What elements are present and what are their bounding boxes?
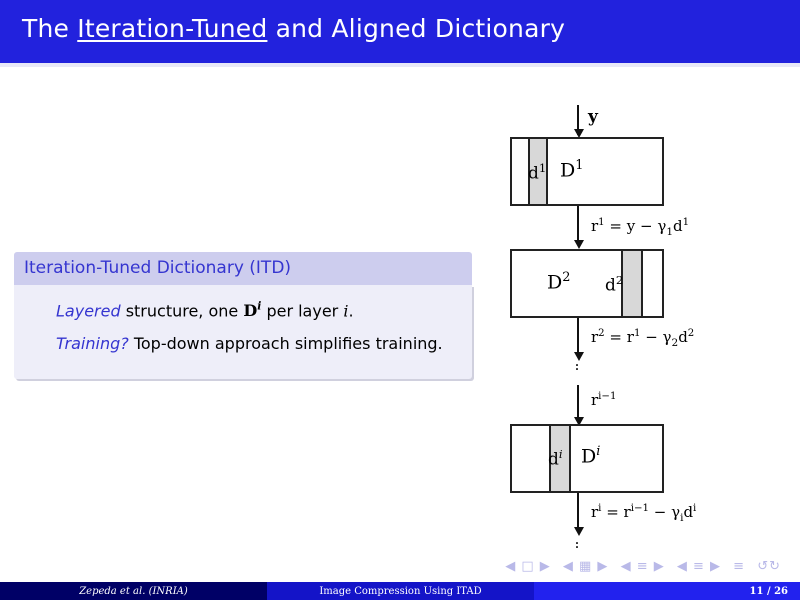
eq1-minus: − — [635, 217, 657, 235]
layered-text-before: structure, one — [121, 301, 244, 320]
title-part-1: The — [22, 14, 77, 43]
atom-label-1-base: d — [528, 164, 539, 184]
emph-layered: Layered — [56, 301, 121, 320]
eq1-term2: d — [673, 217, 683, 235]
dict-label-i-base: D — [581, 445, 596, 467]
atom-label-2-base: d — [605, 276, 616, 296]
nav-frame-icon[interactable]: ◀ ▦ ▶ — [563, 559, 609, 574]
residual-arrow-line-2 — [577, 318, 579, 354]
dict-label-2-sup: 2 — [562, 270, 570, 285]
intermediate-residual-label: ri−1 — [591, 391, 616, 409]
input-label-text: y — [588, 107, 598, 127]
eqi-term1: r — [624, 503, 631, 521]
layer-box-2 — [510, 249, 664, 318]
residual-arrow-line-mid — [577, 385, 579, 419]
eq1-term2-sup: 1 — [683, 217, 689, 228]
dict-label-1: D1 — [560, 158, 583, 181]
nav-slide-icon[interactable]: ◀ □ ▶ — [505, 559, 551, 574]
eq1-gamma-sub: 1 — [666, 226, 673, 238]
eq1-term1: y — [627, 217, 635, 235]
footer-author: Zepeda et al. (INRIA) — [0, 582, 267, 600]
atom-label-i-sup: i — [559, 447, 563, 461]
vertical-dots-bottom: · · — [571, 541, 583, 549]
footer-title: Image Compression Using ITAD — [267, 582, 534, 600]
dict-label-i: Di — [581, 444, 600, 467]
eqi-minus: − — [649, 503, 671, 521]
atom-label-1: d1 — [528, 161, 546, 184]
emph-training: Training? — [56, 334, 129, 353]
eq2-term1: r — [627, 328, 634, 346]
slide-footer: Zepeda et al. (INRIA) Image Compression … — [0, 582, 800, 600]
nav-back-forward-icon[interactable]: ↺↻ — [757, 559, 781, 574]
title-underline-strip — [0, 63, 800, 67]
eqi-term2-sup: i — [693, 503, 696, 514]
atom-label-1-sup: 1 — [539, 161, 546, 175]
dict-label-1-base: D — [560, 159, 575, 181]
atom-label-2: d2 — [605, 273, 623, 296]
residual-equation-i: ri = ri−1 − γidi — [591, 503, 696, 524]
dict-label-2-base: D — [547, 271, 562, 293]
eqi-equals: = — [601, 503, 623, 521]
footer-page-number: 11 / 26 — [534, 582, 800, 600]
atom-label-i-base: d — [548, 450, 559, 470]
math-d: D — [243, 301, 257, 320]
residual-arrow-line-1 — [577, 206, 579, 242]
layered-period: . — [348, 301, 353, 320]
eq2-minus: − — [640, 328, 662, 346]
nav-subsection-icon[interactable]: ◀ ≡ ▶ — [621, 559, 665, 574]
intermediate-label-sup: i−1 — [598, 391, 616, 402]
atom-column-2 — [621, 251, 643, 316]
itd-block: Iteration-Tuned Dictionary (ITD) Layered… — [14, 252, 472, 379]
block-item-layered: Layered structure, one Di per layer i. — [26, 299, 460, 324]
vertical-dots-middle: · · — [571, 363, 583, 371]
beamer-navigation-symbols[interactable]: ◀ □ ▶ ◀ ▦ ▶ ◀ ≡ ▶ ◀ ≡ ▶ ≡ ↺↻ — [505, 559, 788, 574]
vdot-4: · — [571, 545, 583, 549]
eq2-equals: = — [605, 328, 627, 346]
block-item-training: Training? Top-down approach simplifies t… — [26, 332, 460, 357]
residual-equation-1: r1 = y − γ1d1 — [591, 217, 689, 238]
nav-doc-icon[interactable]: ≡ — [733, 559, 745, 574]
eq1-equals: = — [605, 217, 627, 235]
atom-label-i: di — [548, 447, 563, 470]
dict-label-1-sup: 1 — [575, 158, 583, 173]
dict-label-2: D2 — [547, 270, 570, 293]
eqi-term2: d — [683, 503, 693, 521]
title-part-3: and Aligned Dictionary — [267, 14, 565, 43]
block-body: Layered structure, one Di per layer i. T… — [14, 285, 472, 379]
residual-arrow-head-1 — [574, 240, 584, 249]
eq2-term2-sup: 2 — [688, 328, 694, 339]
itd-diagram: y d1 D1 r1 = y − γ1d1 D2 d2 r2 = r1 − γ2… — [495, 95, 795, 555]
layered-text-after: per layer — [261, 301, 343, 320]
training-text: Top-down approach simplifies training. — [129, 334, 443, 353]
page-title: The Iteration-Tuned and Aligned Dictiona… — [22, 14, 565, 43]
vdot-2: · — [571, 367, 583, 371]
input-label-y: y — [588, 107, 598, 127]
math-dictionary-symbol: Di — [243, 301, 261, 320]
eq1-gamma: γ — [657, 217, 666, 235]
residual-equation-2: r2 = r1 − γ2d2 — [591, 328, 694, 349]
eq2-term2: d — [678, 328, 688, 346]
atom-label-2-sup: 2 — [616, 273, 623, 287]
eqi-term1-sup: i−1 — [631, 503, 649, 514]
nav-section-icon[interactable]: ◀ ≡ ▶ — [677, 559, 721, 574]
dict-label-i-sup: i — [596, 444, 600, 459]
block-title: Iteration-Tuned Dictionary (ITD) — [14, 252, 472, 285]
title-part-underlined: Iteration-Tuned — [77, 14, 267, 43]
residual-arrow-line-i — [577, 493, 579, 529]
eqi-gamma: γ — [671, 503, 680, 521]
eq2-gamma: γ — [663, 328, 672, 346]
